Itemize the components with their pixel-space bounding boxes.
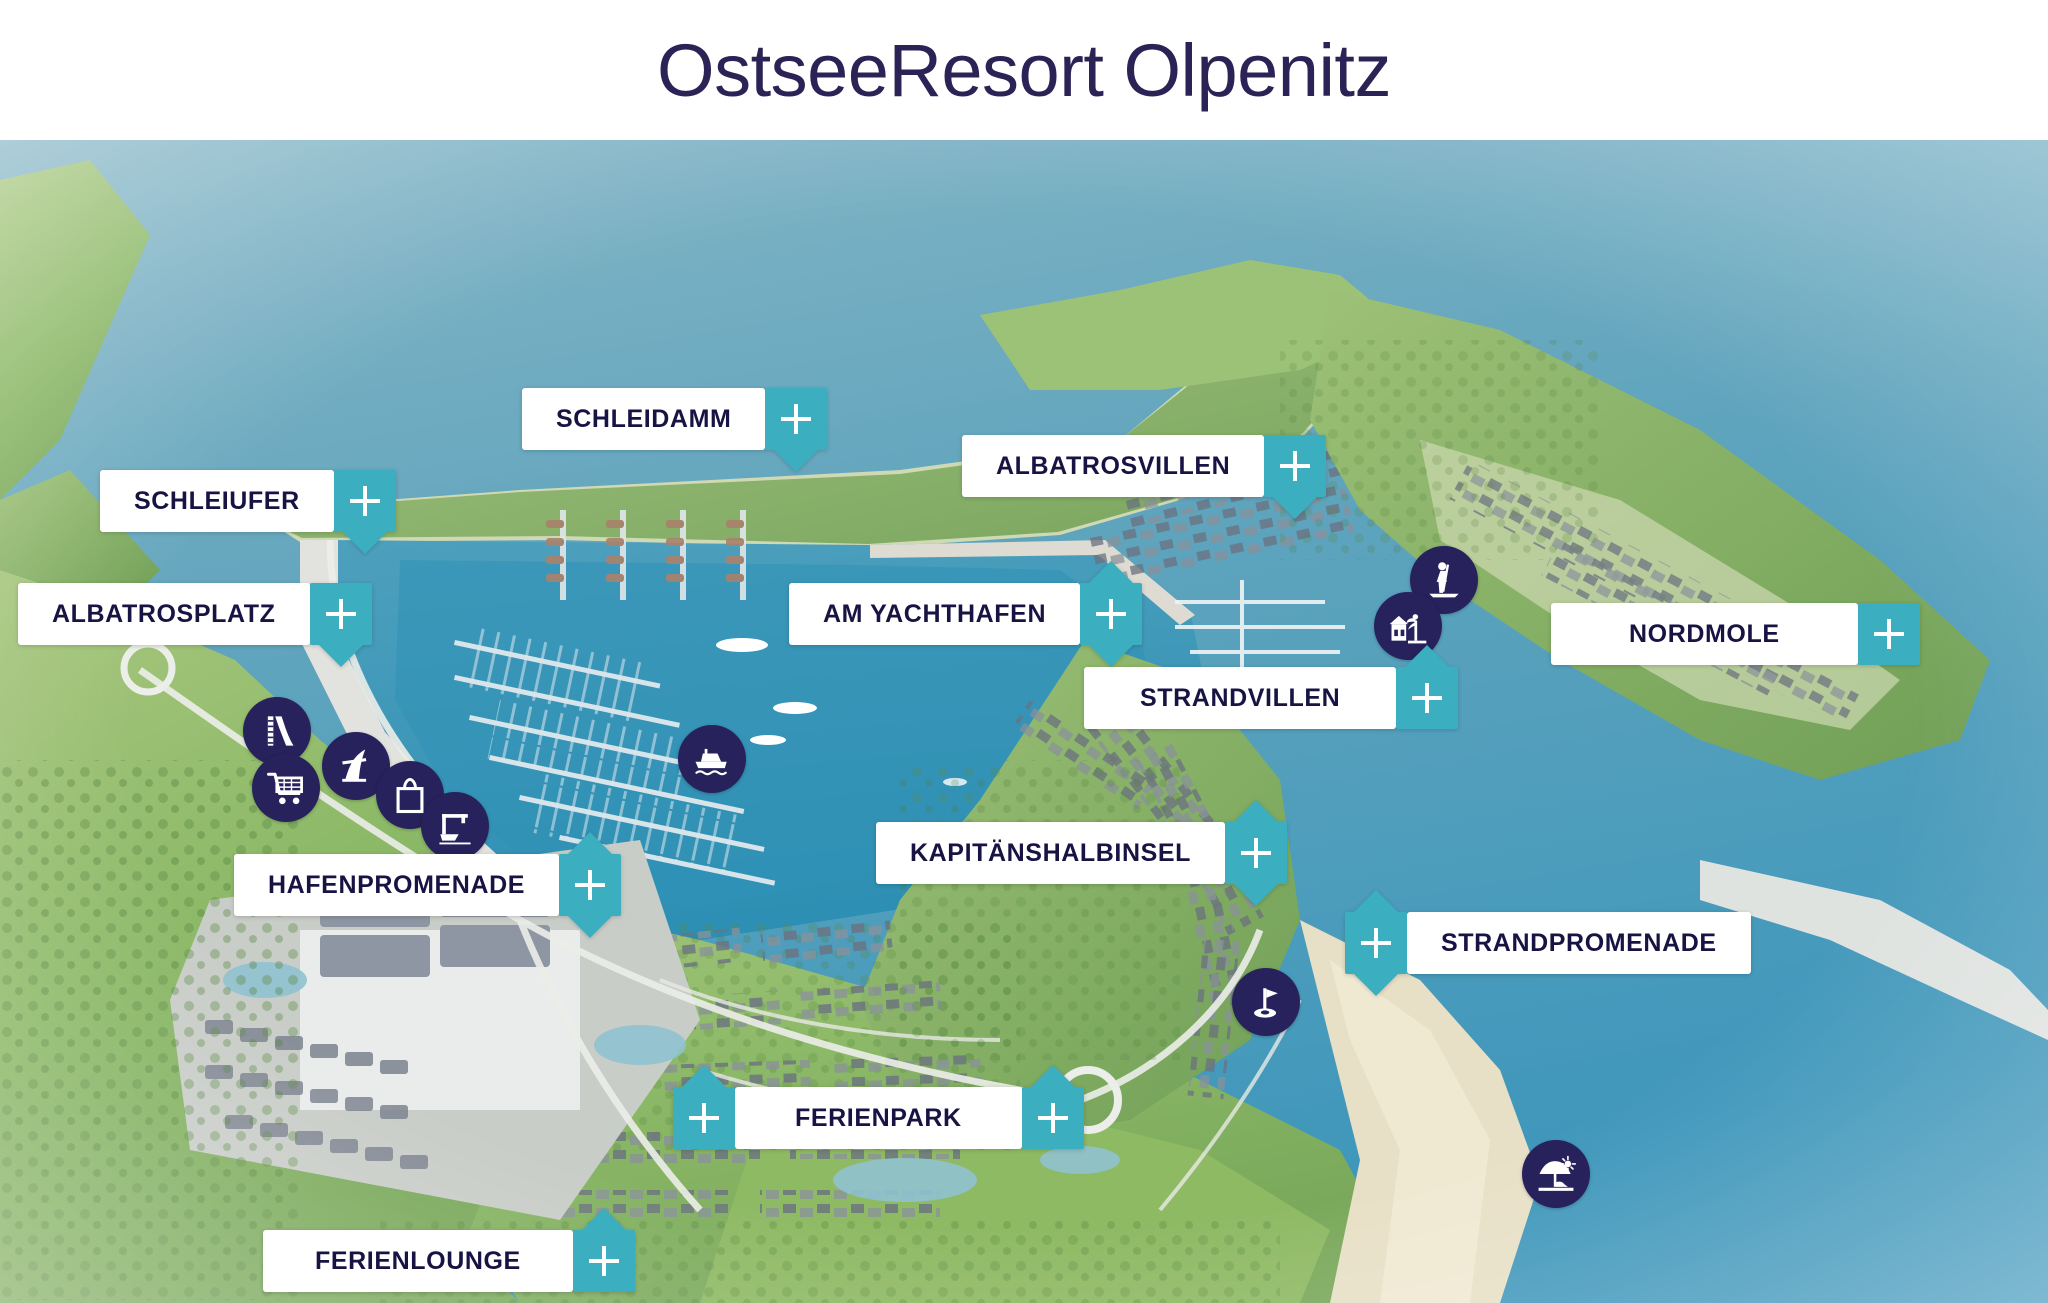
- page-title: OstseeResort Olpenitz: [657, 28, 1391, 113]
- hotspot-albatrosplatz[interactable]: ALBATROSPLATZ: [18, 583, 372, 645]
- beach-village-icon: [1386, 604, 1430, 648]
- windsurf-icon: [334, 744, 378, 788]
- hotspot-kapitaenshalbinsel[interactable]: KAPITÄNSHALBINSEL: [876, 822, 1287, 884]
- expand-button-albatrosvillen[interactable]: [1264, 435, 1326, 497]
- expand-button-ferienlounge[interactable]: [573, 1230, 635, 1292]
- hotspot-schleidamm[interactable]: SCHLEIDAMM: [522, 388, 827, 450]
- motorboat-icon: [690, 737, 734, 781]
- water-slide-icon: [255, 709, 299, 753]
- resort-map[interactable]: SCHLEIDAMM SCHLEIUFER ALBATROSVILLEN ALB…: [0, 140, 2048, 1303]
- hotspot-albatrosvillen[interactable]: ALBATROSVILLEN: [962, 435, 1326, 497]
- expand-button-albatrosplatz[interactable]: [310, 583, 372, 645]
- expand-button-kapitaenshalbinsel[interactable]: [1225, 822, 1287, 884]
- expand-button-nordmole[interactable]: [1858, 603, 1920, 665]
- plus-icon: [1361, 928, 1391, 958]
- hotspot-label: SCHLEIUFER: [100, 470, 334, 532]
- expand-button-ferienpark-right[interactable]: [1022, 1087, 1084, 1149]
- plus-icon: [689, 1103, 719, 1133]
- expand-button-schleiufer[interactable]: [334, 470, 396, 532]
- golf-icon: [1244, 980, 1288, 1024]
- page-header: OstseeResort Olpenitz: [0, 0, 2048, 140]
- expand-button-strandpromenade[interactable]: [1345, 912, 1407, 974]
- hotspot-label: FERIENLOUNGE: [263, 1230, 573, 1292]
- hotspot-label: NORDMOLE: [1551, 603, 1858, 665]
- plus-icon: [1038, 1103, 1068, 1133]
- hotspot-label: STRANDVILLEN: [1084, 667, 1396, 729]
- hotspot-label: ALBATROSPLATZ: [18, 583, 310, 645]
- plus-icon: [326, 599, 356, 629]
- hotspot-strandpromenade[interactable]: STRANDPROMENADE: [1345, 912, 1751, 974]
- hotspot-label: STRANDPROMENADE: [1407, 912, 1751, 974]
- poi-boat-ramp[interactable]: [421, 792, 489, 860]
- plus-icon: [575, 870, 605, 900]
- hotspot-label: SCHLEIDAMM: [522, 388, 765, 450]
- hotspot-label: HAFENPROMENADE: [234, 854, 559, 916]
- poi-motorboat[interactable]: [678, 725, 746, 793]
- hotspot-schleiufer[interactable]: SCHLEIUFER: [100, 470, 396, 532]
- plus-icon: [1280, 451, 1310, 481]
- expand-button-ferienpark-left[interactable]: [673, 1087, 735, 1149]
- expand-button-strandvillen[interactable]: [1396, 667, 1458, 729]
- plus-icon: [1096, 599, 1126, 629]
- plus-icon: [1874, 619, 1904, 649]
- shopping-cart-icon: [264, 766, 308, 810]
- paddleboard-icon: [1422, 558, 1466, 602]
- plus-icon: [589, 1246, 619, 1276]
- hotspot-ferienpark[interactable]: FERIENPARK: [673, 1087, 1084, 1149]
- plus-icon: [1241, 838, 1271, 868]
- hotspot-label: KAPITÄNSHALBINSEL: [876, 822, 1225, 884]
- hotspot-label: FERIENPARK: [735, 1087, 1022, 1149]
- plus-icon: [781, 404, 811, 434]
- hotspot-label: ALBATROSVILLEN: [962, 435, 1264, 497]
- hotspot-nordmole[interactable]: NORDMOLE: [1551, 603, 1920, 665]
- hotspot-ferienlounge[interactable]: FERIENLOUNGE: [263, 1230, 635, 1292]
- hotspot-label: AM YACHTHAFEN: [789, 583, 1080, 645]
- poi-golf[interactable]: [1232, 968, 1300, 1036]
- poi-beach-umbrella[interactable]: [1522, 1140, 1590, 1208]
- expand-button-am-yachthafen[interactable]: [1080, 583, 1142, 645]
- expand-button-hafenpromenade[interactable]: [559, 854, 621, 916]
- expand-button-schleidamm[interactable]: [765, 388, 827, 450]
- hotspot-am-yachthafen[interactable]: AM YACHTHAFEN: [789, 583, 1142, 645]
- hotspot-hafenpromenade[interactable]: HAFENPROMENADE: [234, 854, 621, 916]
- beach-umbrella-icon: [1534, 1152, 1578, 1196]
- boat-ramp-icon: [433, 804, 477, 848]
- plus-icon: [1412, 683, 1442, 713]
- hotspot-strandvillen[interactable]: STRANDVILLEN: [1084, 667, 1458, 729]
- plus-icon: [350, 486, 380, 516]
- poi-shopping-cart[interactable]: [252, 754, 320, 822]
